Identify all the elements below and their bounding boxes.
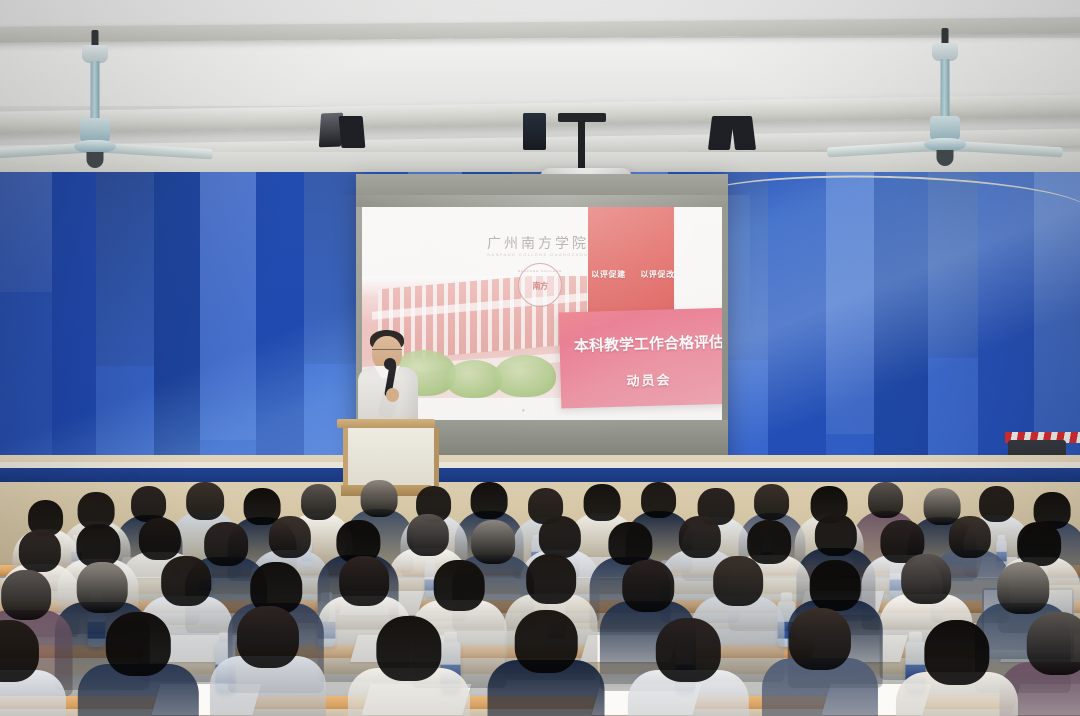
wall-panel: [874, 172, 929, 502]
seal-arc-text: NANFANG COLLEGE: [518, 269, 563, 273]
person-head: [237, 606, 299, 668]
podium-body: [343, 428, 439, 486]
person-head: [810, 560, 861, 611]
person-head: [814, 514, 856, 556]
podium-top: [337, 419, 435, 428]
person-head: [0, 620, 39, 682]
person-head: [77, 524, 120, 567]
ceiling-fan-right: [830, 28, 1060, 178]
person-head: [997, 562, 1049, 614]
conference-hall-photo: EPSON 以评促建 以评促改 广州南方学院 NANFANG COLL: [0, 0, 1080, 716]
slide-title: 本科教学工作合格评估: [558, 330, 722, 356]
slide-university-name: 广州南方学院: [458, 233, 618, 253]
wall-panel-segment: [96, 172, 154, 366]
audience-member: [762, 608, 878, 716]
wall-panel: [256, 172, 305, 502]
person-head: [138, 518, 180, 560]
university-seal-icon: NANFANG COLLEGE 南方: [518, 263, 562, 307]
wall-panel: [724, 172, 769, 502]
presenter-hand: [386, 388, 399, 402]
person-head: [714, 556, 764, 606]
person-head: [924, 620, 989, 685]
person-head: [434, 560, 485, 611]
slide-title-banner: [559, 308, 722, 409]
wall-panel: [0, 172, 53, 502]
wall-panel: [96, 172, 155, 502]
person-head: [902, 554, 952, 604]
stage-skirt: [0, 468, 1080, 482]
ceiling-speaker-icon: [731, 116, 756, 150]
person-head: [340, 556, 390, 606]
ceiling-speaker-icon: [339, 116, 366, 148]
person-head: [948, 516, 990, 558]
fan-light-icon: [937, 150, 954, 166]
seal-center-text: 南方: [533, 280, 548, 291]
person-head: [754, 484, 790, 520]
person-head: [527, 554, 577, 604]
wall-panel: [154, 172, 201, 502]
person-head: [678, 516, 720, 558]
person-head: [77, 562, 128, 613]
fan-downrod: [941, 59, 950, 119]
person-head: [268, 516, 310, 558]
audience-member: [78, 612, 198, 716]
wall-panel: [52, 172, 97, 502]
microphone-head-icon: [384, 358, 396, 370]
person-head: [1017, 522, 1061, 566]
person-head: [641, 482, 677, 518]
wall-panel: [928, 172, 979, 502]
ceiling-speaker-icon: [708, 116, 734, 150]
audience-member: [348, 616, 470, 716]
photo-tree: [494, 355, 556, 397]
person-head: [361, 480, 398, 517]
person-head: [162, 556, 212, 606]
person-head: [609, 522, 652, 565]
fan-light-icon: [87, 152, 104, 168]
wall-panel: [200, 172, 257, 502]
slogan-left: 以评促建: [591, 269, 625, 280]
glasses-icon: [372, 349, 402, 356]
audience-member: [896, 620, 1018, 716]
slogan-right: 以评促改: [640, 269, 674, 280]
person-head: [515, 610, 578, 673]
wall-panel: [768, 172, 827, 502]
person-head: [186, 482, 224, 520]
person-head: [538, 516, 580, 558]
wall-panel: [826, 172, 875, 502]
person-head: [868, 482, 904, 518]
screen-top-band: [356, 174, 728, 207]
slide-slogan: 以评促建 以评促改: [590, 269, 676, 280]
person-head: [106, 612, 170, 676]
person-head: [376, 616, 441, 681]
ceiling-fan-left: [0, 30, 210, 180]
fan-downrod: [91, 61, 100, 121]
person-head: [789, 608, 851, 670]
person-head: [622, 560, 674, 612]
person-head: [656, 618, 720, 682]
person-head: [471, 482, 508, 519]
person-head: [131, 486, 167, 522]
ceiling-speaker-icon: [523, 113, 546, 150]
audience-member: [210, 606, 326, 716]
person-head: [2, 570, 52, 620]
audience-member: [0, 620, 66, 716]
audience-member: [628, 618, 748, 716]
person-head: [301, 484, 337, 520]
wall-panel-segment: [0, 172, 52, 292]
audience-member: [488, 610, 605, 716]
slide-university-name-en: NANFANG COLLEGE GUANGZHOU: [458, 252, 618, 257]
person-head: [406, 514, 448, 556]
projector-stem: [578, 120, 585, 172]
wall-panel-segment: [200, 172, 256, 440]
person-head: [1027, 612, 1080, 675]
